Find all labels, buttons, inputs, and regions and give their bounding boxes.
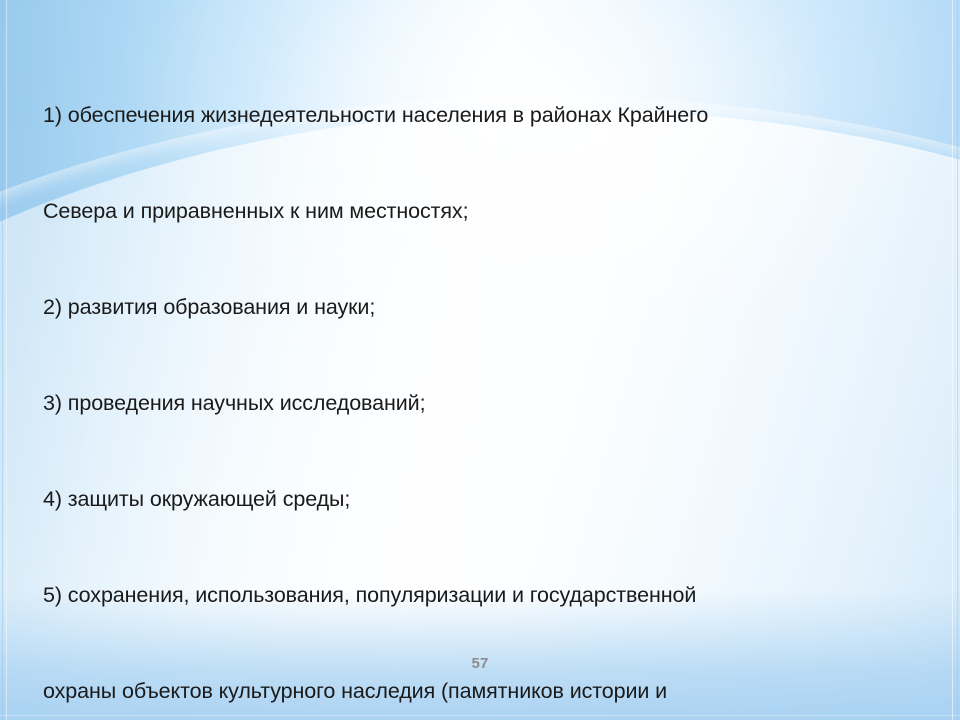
slide-right-edge-rule <box>952 0 953 720</box>
page-number: 57 <box>0 655 960 672</box>
body-line: 1) обеспечения жизнедеятельности населен… <box>43 99 923 131</box>
body-line: охраны объектов культурного наследия (па… <box>43 675 923 707</box>
presentation-slide: 1) обеспечения жизнедеятельности населен… <box>0 0 960 720</box>
body-line: Севера и приравненных к ним местностях; <box>43 195 923 227</box>
body-line: 3) проведения научных исследований; <box>43 387 923 419</box>
body-line: 2) развития образования и науки; <box>43 291 923 323</box>
slide-right-edge-rule-outer <box>957 0 958 720</box>
body-line: 4) защиты окружающей среды; <box>43 483 923 515</box>
slide-left-edge-rule-outer <box>2 0 3 720</box>
body-line: 5) сохранения, использования, популяриза… <box>43 579 923 611</box>
slide-body-text: 1) обеспечения жизнедеятельности населен… <box>43 35 923 720</box>
slide-left-edge-rule <box>6 0 7 720</box>
